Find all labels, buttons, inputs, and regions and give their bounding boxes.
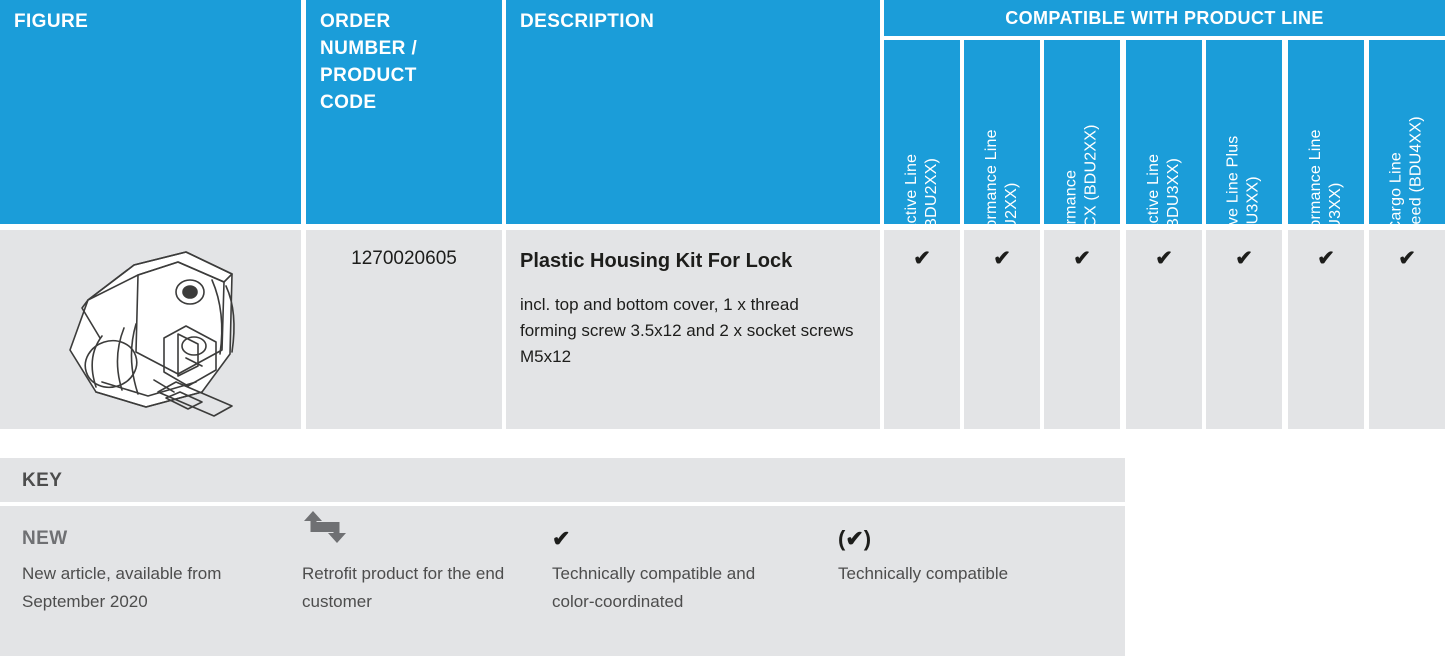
column-header-product-line-7: Perf./Cargo LineCX/Speed (BDU4XX) xyxy=(1369,40,1445,224)
check-icon: ✔ xyxy=(964,230,1040,445)
column-header-product-line-2: Performance Line(BDU2XX) xyxy=(964,40,1040,224)
product-details: incl. top and bottom cover, 1 x thread f… xyxy=(520,292,860,370)
column-header-order-number-label: ORDER NUMBER / PRODUCT CODE xyxy=(320,8,488,116)
order-number-value: 1270020605 xyxy=(306,230,502,270)
retrofit-arrows-icon xyxy=(302,509,348,550)
check-icon: ✔ xyxy=(1369,230,1445,445)
column-header-product-line-4: Active Line(BDU3XX) xyxy=(1126,40,1202,224)
table-row-description-cell: Plastic Housing Kit For Lock incl. top a… xyxy=(506,230,880,429)
column-header-product-line-1-label: Active Line(BDU2XX) xyxy=(902,154,942,234)
check-icon: ✔ xyxy=(1206,230,1282,445)
compat-cell-product-line-2: ✔ xyxy=(964,230,1040,429)
key-item-compatible: (✔) Technically compatible xyxy=(838,506,1108,656)
column-header-description: DESCRIPTION xyxy=(506,0,880,224)
key-item-new-text: New article, available from September 20… xyxy=(22,560,252,616)
compat-cell-product-line-5: ✔ xyxy=(1206,230,1282,429)
column-header-description-label: DESCRIPTION xyxy=(520,8,866,35)
key-item-compatible-color-text: Technically compatible and color-coordin… xyxy=(552,560,782,616)
compat-cell-product-line-4: ✔ xyxy=(1126,230,1202,429)
product-title: Plastic Housing Kit For Lock xyxy=(520,248,860,274)
check-in-parens-icon: (✔) xyxy=(838,528,871,550)
compat-cell-product-line-1: ✔ xyxy=(884,230,960,429)
column-header-product-line-5: Active Line Plus(BDU3XX) xyxy=(1206,40,1282,224)
column-header-figure-label: FIGURE xyxy=(14,8,287,35)
key-item-new-symbol: NEW xyxy=(22,528,68,550)
product-compatibility-sheet: FIGURE ORDER NUMBER / PRODUCT CODE DESCR… xyxy=(0,0,1445,656)
key-item-compatible-color: ✔ Technically compatible and color-coord… xyxy=(552,506,812,656)
check-icon: ✔ xyxy=(1044,230,1120,445)
column-header-product-line-6: Performance Line(BDU3XX) xyxy=(1288,40,1364,224)
column-group-header-compatible: COMPATIBLE WITH PRODUCT LINE xyxy=(884,0,1445,36)
column-header-product-line-3: PerformanceLine CX (BDU2XX) xyxy=(1044,40,1120,224)
key-header: KEY xyxy=(0,458,1125,502)
column-header-product-line-4-label: Active Line(BDU3XX) xyxy=(1144,154,1184,234)
key-item-new: NEW New article, available from Septembe… xyxy=(22,506,292,656)
column-header-product-line-1: Active Line(BDU2XX) xyxy=(884,40,960,224)
table-row-order-number-cell: 1270020605 xyxy=(306,230,502,429)
compat-cell-product-line-6: ✔ xyxy=(1288,230,1364,429)
key-header-label: KEY xyxy=(0,458,1125,492)
key-body: NEW New article, available from Septembe… xyxy=(0,506,1125,656)
compat-cell-product-line-7: ✔ xyxy=(1369,230,1445,429)
check-icon: ✔ xyxy=(552,528,570,550)
table-row-figure-cell xyxy=(0,230,301,429)
column-group-header-label: COMPATIBLE WITH PRODUCT LINE xyxy=(884,0,1445,36)
check-icon: ✔ xyxy=(1288,230,1364,445)
check-icon: ✔ xyxy=(884,230,960,445)
column-header-order-number: ORDER NUMBER / PRODUCT CODE xyxy=(306,0,502,224)
check-icon: ✔ xyxy=(1126,230,1202,445)
compat-cell-product-line-3: ✔ xyxy=(1044,230,1120,429)
column-header-figure: FIGURE xyxy=(0,0,301,224)
key-item-compatible-text: Technically compatible xyxy=(838,560,1068,588)
key-item-retrofit-text: Retrofit product for the end customer xyxy=(302,560,532,616)
key-item-retrofit: Retrofit product for the end customer xyxy=(302,506,552,656)
plastic-housing-kit-icon xyxy=(26,242,276,417)
